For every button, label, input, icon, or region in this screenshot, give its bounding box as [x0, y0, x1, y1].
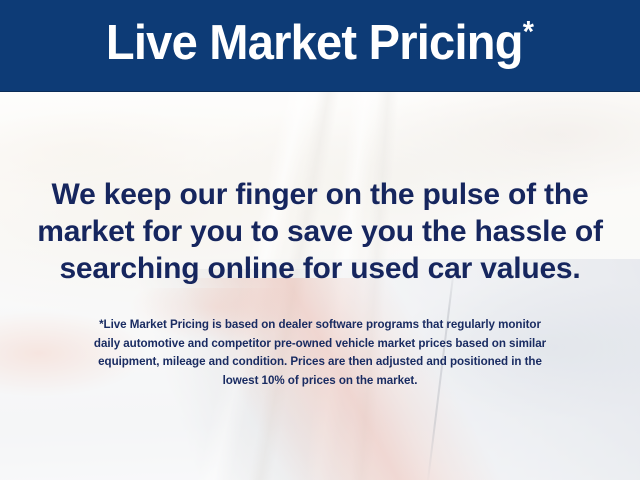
- header-banner: Live Market Pricing*: [0, 0, 640, 91]
- headline: We keep our finger on the pulse of the m…: [0, 176, 640, 287]
- disclaimer-line: equipment, mileage and condition. Prices…: [0, 353, 640, 372]
- banner-title: Live Market Pricing*: [106, 19, 534, 72]
- disclaimer: *Live Market Pricing is based on dealer …: [0, 316, 640, 390]
- headline-line: market for you to save you the hassle of: [0, 213, 640, 250]
- disclaimer-line: daily automotive and competitor pre-owne…: [0, 335, 640, 354]
- disclaimer-line: *Live Market Pricing is based on dealer …: [0, 316, 640, 335]
- live-market-pricing-card: Live Market Pricing* We keep our finger …: [0, 0, 640, 480]
- banner-title-asterisk: *: [523, 16, 534, 49]
- headline-line: searching online for used car values.: [0, 250, 640, 287]
- disclaimer-line: lowest 10% of prices on the market.: [0, 372, 640, 391]
- banner-title-text: Live Market Pricing: [106, 16, 523, 70]
- headline-line: We keep our finger on the pulse of the: [0, 176, 640, 213]
